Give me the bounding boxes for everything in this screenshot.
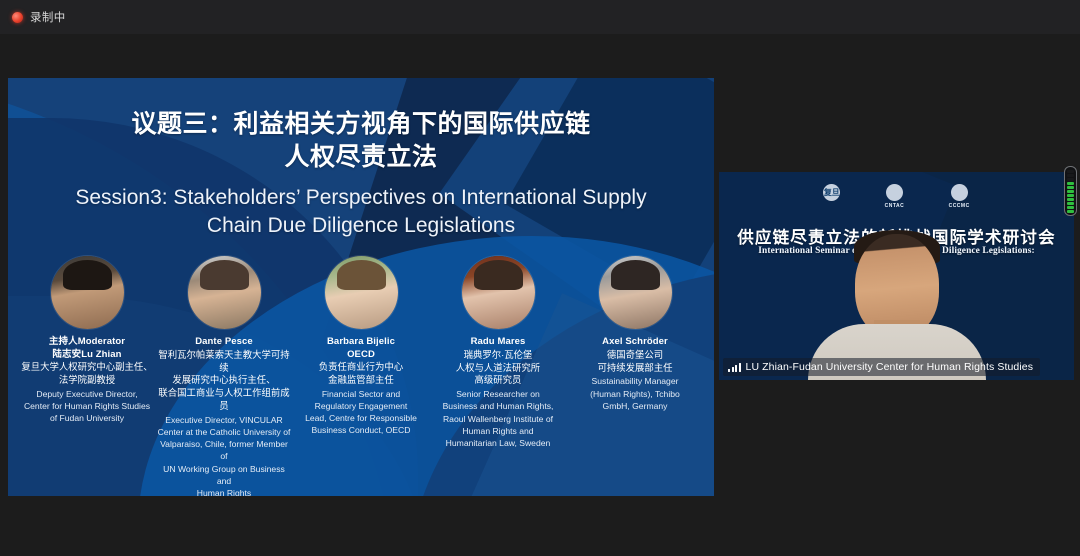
- audio-level-segment: [1067, 202, 1074, 205]
- speaker-affiliation-english: Sustainability Manager(Human Rights), Tc…: [590, 375, 680, 411]
- speaker-name: Barbara Bijelic: [327, 336, 395, 349]
- organization-logo: 复旦: [823, 184, 840, 209]
- speaker-name-chinese: 陆志安Lu Zhian: [52, 349, 121, 362]
- speaker-affiliation-chinese: 智利瓦尔帕莱索天主教大学可持续发展研究中心执行主任、联合国工商业与人权工作组前成…: [157, 349, 291, 414]
- slide-title-english-line1: Session3: Stakeholders’ Perspectives on …: [8, 184, 714, 212]
- audio-level-segment: [1067, 198, 1074, 201]
- speaker-affiliation-chinese: 负责任商业行为中心金融监管部主任: [319, 361, 403, 387]
- slide-title-chinese-line1: 议题三：利益相关方视角下的国际供应链: [8, 108, 714, 141]
- audio-level-segment: [1067, 190, 1074, 193]
- speaker-affiliation-chinese: 德国奇堡公司可持续发展部主任: [597, 349, 672, 375]
- speaker-portrait: [325, 256, 398, 329]
- speaker-affiliation-english: Deputy Executive Director,Center for Hum…: [24, 388, 150, 424]
- organization-logo-mark-icon: [951, 184, 968, 201]
- audio-level-segment: [1067, 186, 1074, 189]
- recording-dot-icon: [12, 12, 23, 23]
- participant-video-tile[interactable]: 复旦CNTACCCCMC 供应链尽责立法的新挑战国际学术研讨会 Internat…: [719, 172, 1074, 380]
- audio-level-segment: [1067, 210, 1074, 213]
- recording-label: 录制中: [30, 9, 66, 25]
- organization-logo-caption: CCCMC: [949, 203, 970, 209]
- speaker-card: Barbara BijelicOECD负责任商业行为中心金融监管部主任Finan…: [294, 256, 428, 496]
- organization-logo-mark-icon: [886, 184, 903, 201]
- participant-name-text: LU Zhian-Fudan University Center for Hum…: [746, 361, 1034, 373]
- audio-level-segment: [1067, 194, 1074, 197]
- speaker-card: Axel Schröder德国奇堡公司可持续发展部主任Sustainabilit…: [568, 256, 702, 496]
- speaker-affiliation-english: Senior Researcher onBusiness and Human R…: [443, 388, 554, 448]
- organization-logo-caption: CNTAC: [885, 203, 905, 209]
- speaker-affiliation-chinese: 瑞典罗尔·瓦伦堡人权与人道法研究所高级研究员: [456, 349, 540, 388]
- speaker-name: Radu Mares: [471, 336, 526, 349]
- speaker-card: 主持人Moderator陆志安Lu Zhian复旦大学人权研究中心副主任、法学院…: [20, 256, 154, 496]
- slide-title-english-line2: Chain Due Diligence Legislations: [8, 212, 714, 240]
- participant-name-label: LU Zhian-Fudan University Center for Hum…: [723, 358, 1040, 376]
- speaker-affiliation-chinese: 复旦大学人权研究中心副主任、法学院副教授: [21, 361, 152, 387]
- speaker-name: Dante Pesce: [195, 336, 253, 349]
- speaker-photo-detail: [200, 260, 249, 290]
- organization-logo-mark-icon: 复旦: [823, 184, 840, 201]
- virtual-background-logos: 复旦CNTACCCCMC: [719, 184, 1074, 209]
- audio-level-segment: [1067, 206, 1074, 209]
- video-conference-screen: 录制中 议题三：利益相关方视角下的国际供应链 人权尽责立法 Session3: …: [0, 0, 1080, 556]
- speaker-card: Radu Mares瑞典罗尔·瓦伦堡人权与人道法研究所高级研究员Senior R…: [431, 256, 565, 496]
- slide-title-english: Session3: Stakeholders’ Perspectives on …: [8, 184, 714, 240]
- audio-level-segment: [1067, 178, 1074, 181]
- speaker-photo-detail: [611, 260, 660, 290]
- speaker-affiliation-english: Financial Sector andRegulatory Engagemen…: [305, 388, 417, 436]
- speaker-portrait: [51, 256, 124, 329]
- organization-logo: CNTAC: [885, 184, 905, 209]
- audio-level-segment: [1067, 182, 1074, 185]
- speaker-name: Axel Schröder: [602, 336, 668, 349]
- speaker-portrait: [462, 256, 535, 329]
- slide-title-chinese-line2: 人权尽责立法: [8, 141, 714, 174]
- speaker-affiliation-english: Executive Director, VINCULARCenter at th…: [157, 414, 291, 496]
- speaker-card: Dante Pesce智利瓦尔帕莱索天主教大学可持续发展研究中心执行主任、联合国…: [157, 256, 291, 496]
- speaker-name: 主持人Moderator: [49, 336, 125, 349]
- speaker-photo-detail: [63, 260, 112, 290]
- audio-level-meter[interactable]: [1064, 166, 1077, 216]
- organization-logo: CCCMC: [949, 184, 970, 209]
- slide-title-chinese: 议题三：利益相关方视角下的国际供应链 人权尽责立法: [8, 78, 714, 173]
- speaker-portrait: [188, 256, 261, 329]
- recording-indicator-bar: 录制中: [0, 0, 1080, 34]
- speaker-photo-detail: [474, 260, 523, 290]
- audio-level-segment: [1067, 174, 1074, 177]
- speaker-portrait: [599, 256, 672, 329]
- signal-strength-icon: [728, 363, 741, 372]
- audio-level-segment: [1067, 170, 1074, 173]
- speaker-name-chinese: OECD: [347, 349, 375, 362]
- speaker-list: 主持人Moderator陆志安Lu Zhian复旦大学人权研究中心副主任、法学院…: [8, 256, 714, 496]
- speaker-photo-detail: [337, 260, 386, 290]
- shared-screen-slide[interactable]: 议题三：利益相关方视角下的国际供应链 人权尽责立法 Session3: Stak…: [8, 78, 714, 496]
